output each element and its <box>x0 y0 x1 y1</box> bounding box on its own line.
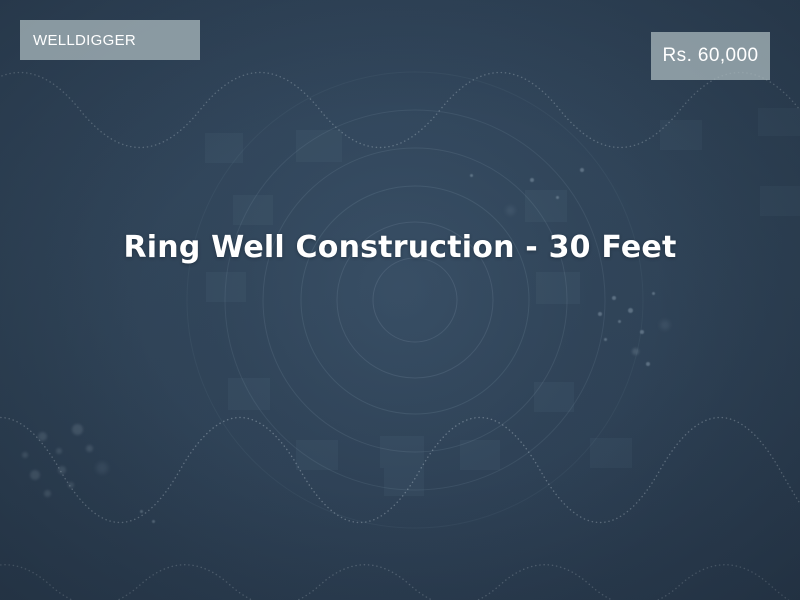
particle-dot <box>506 206 515 215</box>
decor-rectangle <box>525 190 567 222</box>
particle-dot <box>58 466 66 474</box>
decor-rectangle <box>590 438 632 468</box>
particle-dot <box>612 296 616 300</box>
particle-dot <box>640 330 644 334</box>
line-decor-layer <box>0 0 800 600</box>
decor-rectangle <box>660 120 702 150</box>
decor-rectangle <box>233 195 273 225</box>
particle-dot <box>30 470 40 480</box>
brand-badge: WELLDIGGER <box>20 20 200 60</box>
particle-dot <box>56 448 62 454</box>
brand-label: WELLDIGGER <box>33 32 136 49</box>
particle-dot <box>470 174 473 177</box>
price-badge: Rs. 60,000 <box>651 32 770 80</box>
price-label: Rs. 60,000 <box>663 45 759 67</box>
decor-rectangle <box>296 440 338 470</box>
decor-rectangle <box>380 436 424 468</box>
particle-dot <box>140 510 143 513</box>
decor-rectangle <box>296 130 342 162</box>
particle-dot <box>580 168 584 172</box>
particle-dot <box>628 308 633 313</box>
particle-layer <box>0 0 800 600</box>
particle-dot <box>38 432 47 441</box>
decor-rectangle <box>760 186 800 216</box>
background-gradient <box>0 0 800 600</box>
decor-rectangle <box>534 382 574 412</box>
decor-rectangle <box>536 272 580 304</box>
particle-dot <box>556 196 559 199</box>
particle-dot <box>86 445 93 452</box>
decor-rectangle <box>460 440 500 470</box>
concentric-rings <box>187 72 643 528</box>
service-card: WELLDIGGER Rs. 60,000 Ring Well Construc… <box>0 0 800 600</box>
particle-dot <box>96 462 108 474</box>
particle-dot <box>618 320 621 323</box>
particle-dot <box>632 348 639 355</box>
top-wave <box>0 73 800 149</box>
bottom-wave <box>0 565 800 600</box>
decor-rectangle <box>205 133 243 163</box>
decor-rectangle <box>384 468 424 496</box>
particle-dot <box>598 312 602 316</box>
particle-dot <box>652 292 655 295</box>
particle-dot <box>604 338 607 341</box>
particle-dot <box>646 362 650 366</box>
mid-wave <box>0 418 800 529</box>
decor-rectangle <box>206 272 246 302</box>
page-title: Ring Well Construction - 30 Feet <box>0 232 800 263</box>
particle-dot <box>68 482 74 488</box>
decor-rectangle <box>758 108 800 136</box>
particle-dot <box>44 490 51 497</box>
particle-dot <box>660 320 670 330</box>
dotted-waves <box>0 73 800 600</box>
decor-rectangle <box>228 378 270 410</box>
particle-dot <box>22 452 28 458</box>
background-vignette <box>0 0 800 600</box>
particle-dot <box>72 424 83 435</box>
particle-dot <box>530 178 534 182</box>
rectangle-pattern <box>0 0 800 600</box>
particle-dot <box>152 520 155 523</box>
